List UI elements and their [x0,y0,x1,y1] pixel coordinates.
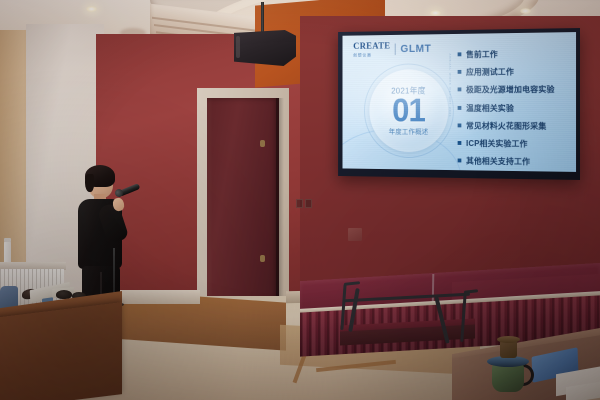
logo-brand-cn: 创想仪器 [353,53,390,57]
slide-surface: CREATE 创想仪器 GLMT 2021年度 01 年度工作概述 ANNUAL… [343,32,577,172]
logo-brand-secondary: GLMT [400,43,431,55]
slide-side-code: ANNUAL WORK REPORT 2021 [448,53,452,117]
bullet-square-icon [458,52,462,56]
speaker-mount-pole [261,2,264,32]
downlight-icon [520,8,531,14]
water-bottle [4,241,11,263]
list-item: 应用测试工作 [458,65,569,78]
wall-switch-plate[interactable] [348,228,362,241]
wall-outlet[interactable] [305,199,312,208]
list-item: 常见材料火花图形采集 [458,119,569,131]
bullet-square-icon [458,70,462,74]
projection-screen: CREATE 创想仪器 GLMT 2021年度 01 年度工作概述 ANNUAL… [338,28,580,180]
ceiling-speaker [234,30,296,66]
logo-brand-en: CREATE [353,43,390,53]
bullet-label: ICP相关实验工作 [466,137,528,149]
door-handle-knob [260,255,265,262]
conference-room-photo: CREATE 创想仪器 GLMT 2021年度 01 年度工作概述 ANNUAL… [0,0,600,400]
bullet-label: 其他相关支持工作 [466,155,530,168]
bullet-label: 应用测试工作 [466,66,514,78]
bottle-cap [4,238,11,242]
downlight-icon [86,6,97,12]
door-shadow [276,98,284,306]
door[interactable] [207,98,279,306]
list-item: 温度相关实验 [458,102,569,114]
bullet-square-icon [458,159,462,163]
list-item: 售前工作 [458,47,569,60]
speaker-edge [236,36,240,58]
presenter [72,168,130,308]
bullet-label: 售前工作 [466,48,498,60]
bullet-square-icon [458,106,462,110]
slide-section-circle: 2021年度 01 年度工作概述 [369,69,448,153]
list-item: 其他相关支持工作 [458,155,569,168]
bullet-label: 温度相关实验 [466,102,514,114]
logo-create: CREATE 创想仪器 [353,43,390,57]
slide-section-number: 01 [392,97,425,127]
door-handle-knob [260,140,265,147]
bullet-square-icon [458,88,462,92]
foreground-table-left [0,302,122,400]
slide-section-subtitle: 年度工作概述 [389,127,429,137]
slide-bullet-list: 售前工作 应用测试工作 极距及光源增加电容实验 温度相关实验 常见材料火花图形采… [458,47,569,168]
bullet-label: 极距及光源增加电容实验 [466,83,555,95]
presenter-hair-side [85,174,94,192]
bullet-square-icon [458,141,462,145]
wall-outlet[interactable] [296,199,303,208]
slide-logo: CREATE 创想仪器 GLMT [353,42,431,57]
logo-divider [395,44,396,56]
list-item: 极距及光源增加电容实验 [458,83,569,95]
teapot-lid [497,336,520,343]
bullet-square-icon [458,123,462,127]
bullet-label: 常见材料火花图形采集 [466,119,546,131]
list-item: ICP相关实验工作 [458,137,569,150]
